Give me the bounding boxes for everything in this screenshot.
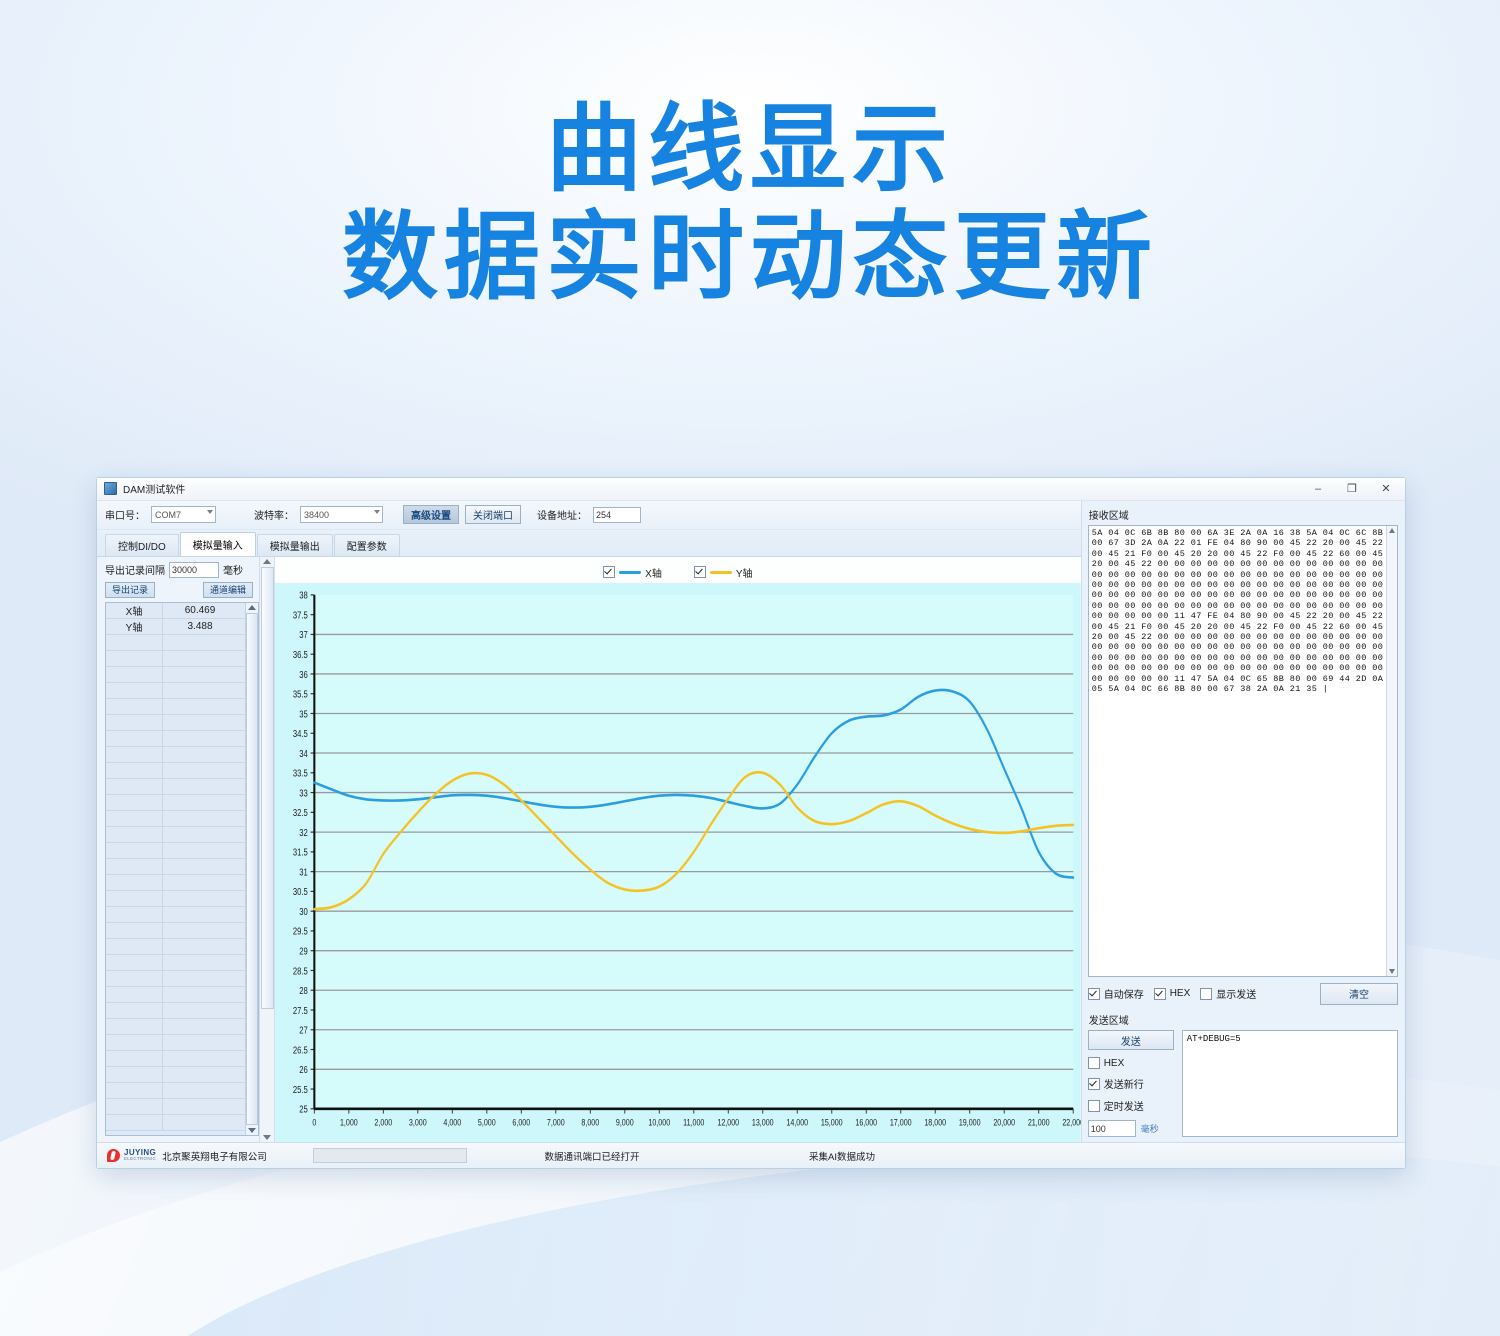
app-icon: [104, 482, 117, 495]
baud-select[interactable]: 38400: [300, 506, 383, 523]
svg-text:28.5: 28.5: [293, 965, 308, 976]
svg-text:29.5: 29.5: [293, 926, 308, 937]
receive-options: 自动保存 HEX 显示发送 清空: [1088, 983, 1398, 1005]
channel-edit-button[interactable]: 通道编辑: [203, 582, 253, 598]
receive-textarea[interactable]: 5A 04 0C 6B 8B 80 00 6A 3E 2A 0A 16 38 5…: [1088, 525, 1398, 977]
status-message-1: 数据通讯端口已经打开: [467, 1149, 717, 1163]
channel-grid-rows: X轴 60.469 Y轴 3.488: [106, 603, 245, 1135]
table-row-empty[interactable]: [106, 859, 245, 875]
baud-label: 波特率：: [254, 507, 294, 522]
table-row-empty[interactable]: [106, 779, 245, 795]
auto-save-label: 自动保存: [1104, 986, 1144, 1001]
svg-text:17,000: 17,000: [890, 1118, 912, 1128]
send-textarea[interactable]: AT+DEBUG=5: [1182, 1030, 1398, 1137]
legend-checkbox-x[interactable]: [603, 566, 615, 578]
send-newline-checkbox[interactable]: [1088, 1078, 1100, 1090]
svg-text:35.5: 35.5: [293, 689, 308, 700]
send-interval-row: 100 毫秒: [1088, 1120, 1174, 1137]
table-row[interactable]: Y轴 3.488: [106, 619, 245, 635]
channel-grid-scrollbar[interactable]: [245, 603, 258, 1135]
svg-text:33.5: 33.5: [293, 768, 308, 779]
minimize-button[interactable]: –: [1301, 478, 1335, 499]
port-label: 串口号：: [105, 507, 145, 522]
scroll-up-icon[interactable]: [1389, 528, 1395, 533]
tab-analog-input[interactable]: 模拟量输入: [180, 532, 256, 556]
svg-text:16,000: 16,000: [855, 1118, 877, 1128]
legend-label-x: X轴: [645, 565, 662, 580]
advanced-settings-button[interactable]: 高级设置: [403, 505, 459, 524]
svg-text:30.5: 30.5: [293, 886, 308, 897]
svg-text:2,000: 2,000: [374, 1118, 392, 1128]
company-name: 北京聚英翔电子有限公司: [162, 1149, 267, 1163]
svg-text:29: 29: [299, 946, 308, 957]
receive-hex-content: 5A 04 0C 6B 8B 80 00 6A 3E 2A 0A 16 38 5…: [1089, 526, 1386, 976]
svg-text:21,000: 21,000: [1028, 1118, 1050, 1128]
table-row-empty[interactable]: [106, 955, 245, 971]
tab-control-di-do[interactable]: 控制DI/DO: [105, 534, 179, 556]
svg-text:36.5: 36.5: [293, 649, 308, 660]
table-row-empty[interactable]: [106, 1051, 245, 1067]
svg-text:10,000: 10,000: [648, 1118, 670, 1128]
chart-plot: 2525.52626.52727.52828.52929.53030.53131…: [275, 583, 1081, 1142]
send-row: 发送 HEX 发送新行 定时发送 100 毫秒: [1088, 1030, 1398, 1137]
progress-bar: [313, 1148, 467, 1163]
svg-text:19,000: 19,000: [959, 1118, 981, 1128]
status-message-2: 采集AI数据成功: [717, 1149, 967, 1163]
legend-item-y[interactable]: Y轴: [694, 565, 753, 580]
svg-text:33: 33: [299, 787, 308, 798]
table-row-empty[interactable]: [106, 1115, 245, 1131]
table-row-empty[interactable]: [106, 843, 245, 859]
export-interval-label: 导出记录间隔: [105, 562, 165, 577]
table-row-empty[interactable]: [106, 939, 245, 955]
chart-area: X轴 Y轴 2525.52626.52727.52828.52929.53030…: [275, 557, 1081, 1142]
svg-text:31.5: 31.5: [293, 847, 308, 858]
close-button[interactable]: ✕: [1369, 478, 1403, 499]
option-receive-hex[interactable]: HEX: [1154, 988, 1191, 1000]
send-interval-input[interactable]: 100: [1088, 1120, 1136, 1137]
svg-text:38: 38: [299, 590, 308, 601]
scroll-down-icon[interactable]: [248, 1128, 256, 1133]
option-send-newline[interactable]: 发送新行: [1088, 1076, 1174, 1091]
svg-text:36: 36: [299, 669, 308, 680]
show-send-checkbox[interactable]: [1200, 988, 1212, 1000]
table-row-empty[interactable]: [106, 987, 245, 1003]
svg-text:31: 31: [299, 866, 308, 877]
table-row-empty[interactable]: [106, 1035, 245, 1051]
svg-text:35: 35: [299, 708, 308, 719]
tab-bar: 控制DI/DO 模拟量输入 模拟量输出 配置参数: [97, 530, 1081, 557]
svg-text:15,000: 15,000: [821, 1118, 843, 1128]
send-hex-label: HEX: [1104, 1058, 1125, 1069]
legend-label-y: Y轴: [736, 565, 753, 580]
table-row-empty[interactable]: [106, 891, 245, 907]
timed-send-checkbox[interactable]: [1088, 1100, 1100, 1112]
chart-scrollbar[interactable]: [260, 557, 275, 1142]
status-bar: JUYING ELECTRONIC 北京聚英翔电子有限公司 数据通讯端口已经打开…: [97, 1142, 1405, 1168]
baud-value: 38400: [304, 510, 329, 520]
table-row-empty[interactable]: [106, 907, 245, 923]
table-row-empty[interactable]: [106, 827, 245, 843]
svg-text:18,000: 18,000: [924, 1118, 946, 1128]
table-row-empty[interactable]: [106, 747, 245, 763]
svg-text:3,000: 3,000: [409, 1118, 427, 1128]
receive-hex-label: HEX: [1170, 988, 1191, 999]
logo-text: JUYING ELECTRONIC: [124, 1150, 156, 1162]
receive-area-title: 接收区域: [1089, 507, 1398, 522]
svg-text:6,000: 6,000: [512, 1118, 530, 1128]
svg-text:22,000: 22,000: [1062, 1118, 1080, 1128]
tab-content: 导出记录间隔 30000 毫秒 导出记录 通道编辑 X轴 60.469: [97, 557, 1081, 1142]
table-row-empty[interactable]: [106, 635, 245, 651]
headline-line-1: 曲线显示: [0, 95, 1500, 203]
table-row[interactable]: X轴 60.469: [106, 603, 245, 619]
svg-text:0: 0: [312, 1118, 316, 1128]
export-record-button[interactable]: 导出记录: [105, 582, 155, 598]
window-body: 串口号： COM7 波特率： 38400 高级设置 关闭端口 设备地址： 254: [97, 501, 1405, 1142]
table-row-empty[interactable]: [106, 715, 245, 731]
svg-text:26.5: 26.5: [293, 1044, 308, 1055]
chart-column: X轴 Y轴 2525.52626.52727.52828.52929.53030…: [259, 557, 1081, 1142]
clear-button[interactable]: 清空: [1320, 983, 1398, 1005]
svg-text:1,000: 1,000: [340, 1118, 358, 1128]
row-value: 60.469: [163, 603, 245, 618]
svg-text:25.5: 25.5: [293, 1084, 308, 1095]
window-title: DAM测试软件: [123, 481, 185, 496]
svg-text:13,000: 13,000: [752, 1118, 774, 1128]
close-port-button[interactable]: 关闭端口: [465, 505, 521, 524]
export-interval-input[interactable]: 30000: [169, 562, 219, 578]
timed-send-label: 定时发送: [1104, 1098, 1144, 1113]
scroll-up-icon[interactable]: [263, 559, 271, 564]
device-address-input[interactable]: 254: [593, 507, 641, 523]
svg-text:11,000: 11,000: [683, 1118, 705, 1128]
table-row-empty[interactable]: [106, 971, 245, 987]
row-value: 3.488: [163, 619, 245, 634]
device-address-label: 设备地址：: [537, 507, 587, 522]
svg-text:8,000: 8,000: [581, 1118, 599, 1128]
chevron-down-icon: [374, 510, 380, 514]
svg-text:34.5: 34.5: [293, 728, 308, 739]
svg-text:28: 28: [299, 985, 308, 996]
table-row-empty[interactable]: [106, 763, 245, 779]
table-row-empty[interactable]: [106, 667, 245, 683]
table-row-empty[interactable]: [106, 651, 245, 667]
receive-hex-checkbox[interactable]: [1154, 988, 1166, 1000]
svg-text:26: 26: [299, 1064, 308, 1075]
port-value: COM7: [155, 510, 181, 520]
option-timed-send[interactable]: 定时发送: [1088, 1098, 1174, 1113]
table-row-empty[interactable]: [106, 683, 245, 699]
juying-logo-icon: [107, 1149, 120, 1162]
svg-text:14,000: 14,000: [786, 1118, 808, 1128]
svg-text:9,000: 9,000: [616, 1118, 634, 1128]
send-hex-checkbox[interactable]: [1088, 1057, 1100, 1069]
table-row-empty[interactable]: [106, 811, 245, 827]
headline-line-2: 数据实时动态更新: [0, 203, 1500, 311]
poster-headline: 曲线显示 数据实时动态更新: [0, 95, 1500, 311]
row-name: X轴: [106, 603, 163, 618]
table-row-empty[interactable]: [106, 699, 245, 715]
svg-text:7,000: 7,000: [547, 1118, 565, 1128]
svg-text:30: 30: [299, 906, 308, 917]
send-area-title: 发送区域: [1089, 1012, 1398, 1027]
table-row-empty[interactable]: [106, 875, 245, 891]
chart-svg: 2525.52626.52727.52828.52929.53030.53131…: [275, 583, 1081, 1142]
row-name: Y轴: [106, 619, 163, 634]
export-interval-unit: 毫秒: [223, 562, 243, 577]
send-newline-label: 发送新行: [1104, 1076, 1144, 1091]
tab-config-params[interactable]: 配置参数: [334, 534, 400, 556]
svg-text:27.5: 27.5: [293, 1005, 308, 1016]
table-row-empty[interactable]: [106, 1003, 245, 1019]
channel-grid: X轴 60.469 Y轴 3.488: [105, 602, 259, 1136]
scrollbar-thumb[interactable]: [246, 613, 258, 1125]
logo-en-sub: ELECTRONIC: [124, 1156, 156, 1162]
tab-analog-output[interactable]: 模拟量输出: [257, 534, 333, 556]
table-row-empty[interactable]: [106, 731, 245, 747]
receive-scrollbar[interactable]: [1386, 526, 1397, 976]
legend-swatch-y: [710, 571, 732, 574]
svg-text:27: 27: [299, 1025, 308, 1036]
export-interval-row: 导出记录间隔 30000 毫秒: [97, 562, 259, 578]
send-button[interactable]: 发送: [1088, 1030, 1174, 1050]
svg-text:32.5: 32.5: [293, 807, 308, 818]
svg-text:25: 25: [299, 1104, 308, 1115]
send-interval-unit: 毫秒: [1141, 1122, 1159, 1135]
scroll-down-icon[interactable]: [263, 1135, 271, 1140]
maximize-button[interactable]: ❐: [1335, 478, 1369, 499]
table-row-empty[interactable]: [106, 1099, 245, 1115]
application-window: DAM测试软件 – ❐ ✕ 串口号： COM7 波特率： 38400 高级: [96, 477, 1406, 1169]
svg-text:37: 37: [299, 629, 308, 640]
svg-text:20,000: 20,000: [993, 1118, 1015, 1128]
chevron-down-icon: [207, 510, 213, 514]
option-send-hex[interactable]: HEX: [1088, 1057, 1174, 1069]
send-controls: 发送 HEX 发送新行 定时发送 100 毫秒: [1088, 1030, 1174, 1137]
channel-panel: 导出记录间隔 30000 毫秒 导出记录 通道编辑 X轴 60.469: [97, 557, 259, 1142]
svg-text:12,000: 12,000: [717, 1118, 739, 1128]
channel-button-row: 导出记录 通道编辑: [97, 578, 259, 602]
svg-text:37.5: 37.5: [293, 610, 308, 621]
legend-checkbox-y[interactable]: [694, 566, 706, 578]
scroll-up-icon[interactable]: [248, 605, 256, 610]
legend-item-x[interactable]: X轴: [603, 565, 662, 580]
connection-toolbar: 串口号： COM7 波特率： 38400 高级设置 关闭端口 设备地址： 254: [97, 501, 1081, 530]
scroll-down-icon[interactable]: [1389, 969, 1395, 974]
table-row-empty[interactable]: [106, 923, 245, 939]
svg-text:32: 32: [299, 827, 308, 838]
scrollbar-thumb[interactable]: [261, 567, 274, 1009]
left-pane: 串口号： COM7 波特率： 38400 高级设置 关闭端口 设备地址： 254: [97, 501, 1082, 1142]
show-send-label: 显示发送: [1216, 986, 1256, 1001]
chart-legend: X轴 Y轴: [275, 565, 1081, 580]
company-logo: JUYING ELECTRONIC 北京聚英翔电子有限公司: [107, 1149, 307, 1163]
auto-save-checkbox[interactable]: [1088, 988, 1100, 1000]
table-row-empty[interactable]: [106, 1067, 245, 1083]
svg-text:5,000: 5,000: [478, 1118, 496, 1128]
window-titlebar: DAM测试软件 – ❐ ✕: [97, 478, 1405, 501]
svg-text:34: 34: [299, 748, 308, 759]
table-row-empty[interactable]: [106, 795, 245, 811]
legend-swatch-x: [619, 571, 641, 574]
option-show-send[interactable]: 显示发送: [1200, 986, 1256, 1001]
table-row-empty[interactable]: [106, 1083, 245, 1099]
serial-pane: 接收区域 5A 04 0C 6B 8B 80 00 6A 3E 2A 0A 16…: [1082, 501, 1405, 1142]
port-select[interactable]: COM7: [151, 506, 216, 523]
table-row-empty[interactable]: [106, 1019, 245, 1035]
svg-text:4,000: 4,000: [443, 1118, 461, 1128]
option-auto-save[interactable]: 自动保存: [1088, 986, 1144, 1001]
